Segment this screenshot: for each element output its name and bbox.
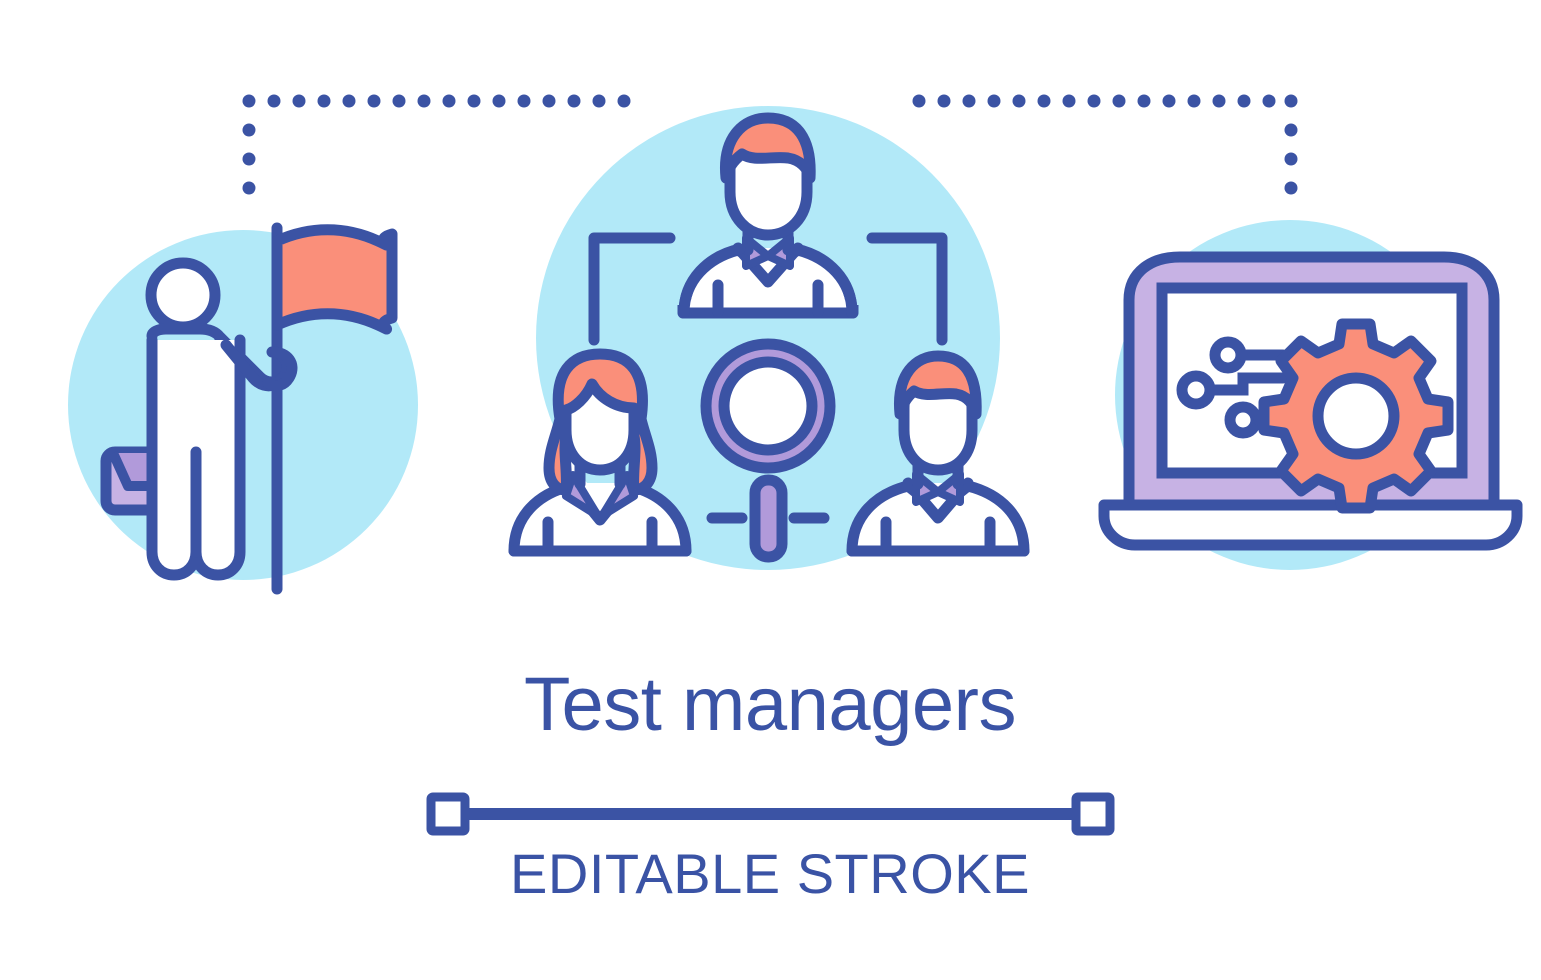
laptop-base xyxy=(1104,505,1517,545)
manager-torso-bottom xyxy=(683,305,853,313)
flag-banner xyxy=(277,230,392,329)
slider-node-middle xyxy=(1182,376,1210,404)
concept-illustration: Test managers EDITABLE STROKE xyxy=(0,0,1541,980)
editable-stroke-caption: EDITABLE STROKE xyxy=(510,842,1030,905)
slider-node-bottom xyxy=(1230,407,1256,433)
page-title: Test managers xyxy=(524,662,1016,747)
slider-node-top xyxy=(1215,342,1241,368)
businessman-with-flag-icon xyxy=(68,228,418,589)
stroke-bar-right-handle xyxy=(1076,797,1110,831)
gear-center-hole xyxy=(1318,378,1394,454)
magnifier-lens xyxy=(724,362,812,450)
team-hierarchy-with-magnifier-icon xyxy=(514,106,1024,570)
dotted-connector-left xyxy=(243,95,631,195)
laptop-with-gear-icon xyxy=(1104,220,1517,570)
illustration-canvas: Test managers EDITABLE STROKE xyxy=(0,0,1541,980)
magnifier-handle xyxy=(755,480,782,557)
editable-stroke-bar xyxy=(431,797,1110,831)
person-head xyxy=(151,263,215,327)
stroke-bar-left-handle xyxy=(431,797,465,831)
dotted-connector-right xyxy=(913,95,1298,195)
